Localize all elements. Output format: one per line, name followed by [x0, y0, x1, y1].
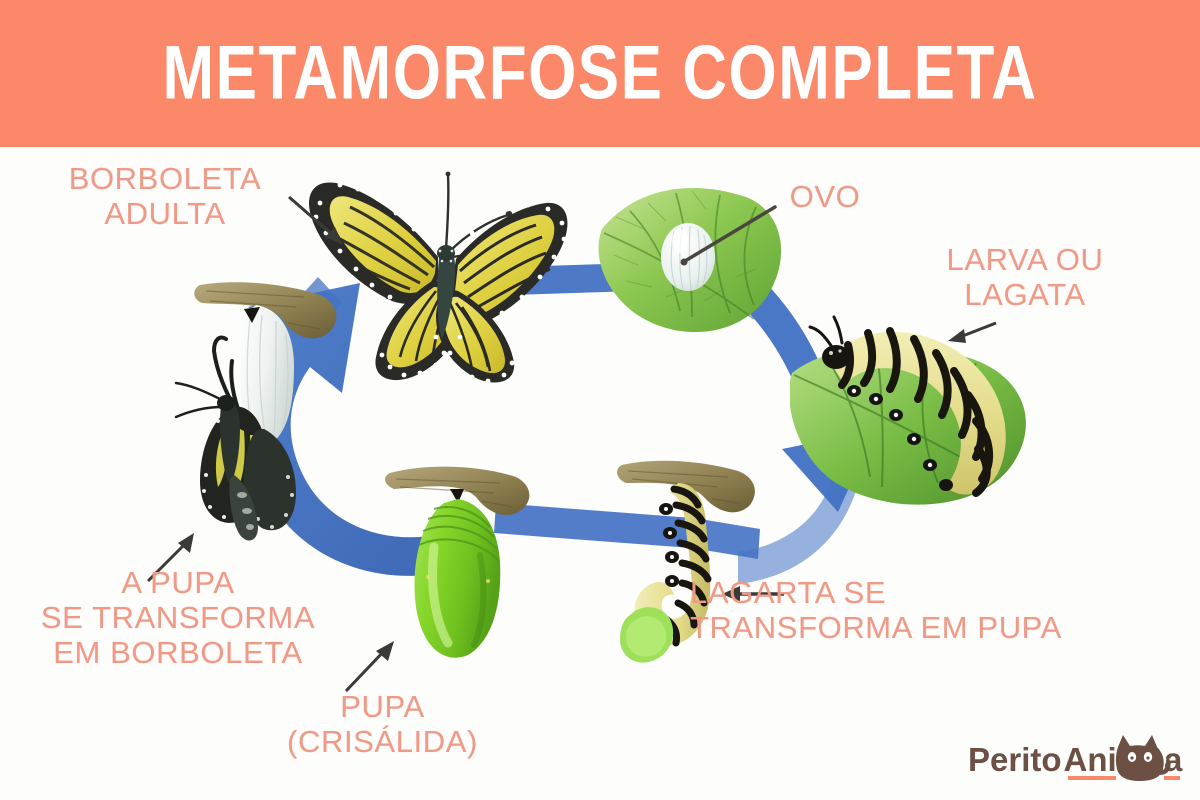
diagram-canvas: BORBOLETA ADULTA OVO LARVA OU LAGATA LAG…	[0, 147, 1200, 800]
label-ovo: OVO	[760, 179, 890, 214]
page-title: METAMORFOSE COMPLETA	[163, 30, 1038, 117]
label-pupa-crisalida: PUPA (CRISÁLIDA)	[245, 689, 520, 759]
brand-logo[interactable]: Perito Ani al	[968, 733, 1183, 791]
infographic-page: METAMORFOSE COMPLETA	[0, 0, 1200, 800]
logo-underline-right	[1164, 776, 1180, 780]
logo-underline-left	[1068, 776, 1116, 780]
chrysalis-illustration	[382, 459, 542, 669]
logo-text-ani: Ani	[1064, 741, 1117, 778]
perito-animal-logo-graphic: Perito Ani al	[968, 733, 1183, 791]
label-lagarta-se-transforma-em-pupa: LAGARTA SE TRANSFORMA EM PUPA	[690, 575, 1120, 645]
logo-text-al: al	[1164, 741, 1183, 778]
label-larva-ou-lagata: LARVA OU LAGATA	[900, 242, 1150, 312]
label-borboleta-adulta: BORBOLETA ADULTA	[30, 161, 300, 231]
emerging-butterfly-illustration	[172, 279, 367, 564]
page-header-banner: METAMORFOSE COMPLETA	[0, 0, 1200, 147]
logo-text-perito: Perito	[968, 741, 1062, 778]
pointer-arrow-crisalida	[340, 635, 400, 697]
caterpillar-on-leaf-illustration	[790, 287, 1070, 517]
pointer-arrow-larva	[940, 315, 1000, 350]
cat-icon	[1116, 735, 1171, 781]
label-a-pupa-se-transforma-em-borboleta: A PUPA SE TRANSFORMA EM BORBOLETA	[28, 565, 328, 670]
